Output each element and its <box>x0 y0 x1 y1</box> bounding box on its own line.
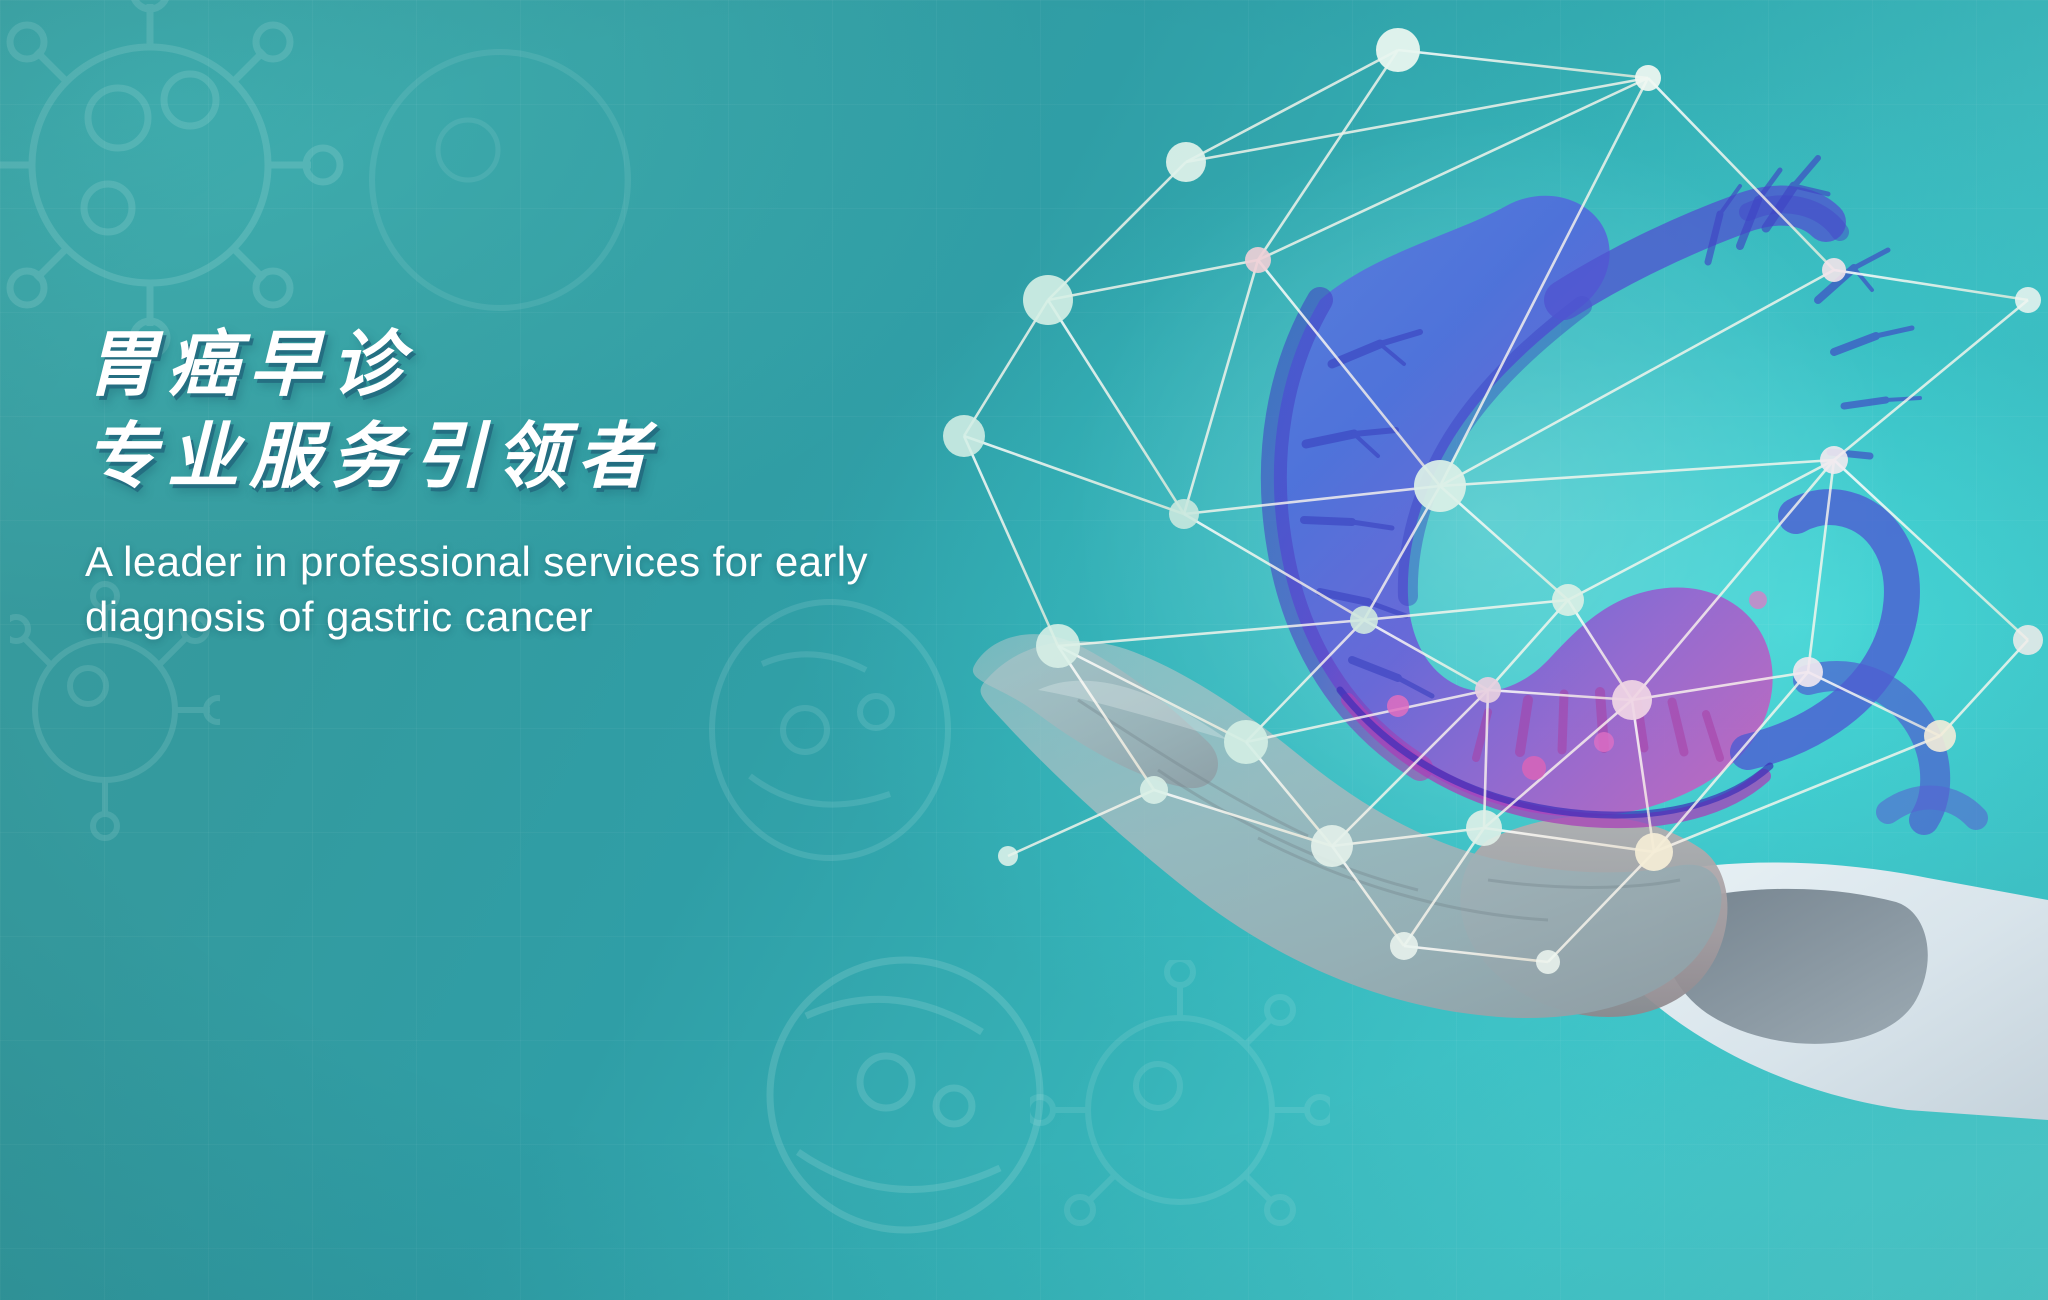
headline-chinese-line-2: 专业服务引领者 <box>85 414 985 500</box>
banner-copy: 胃癌早诊 专业服务引领者 A leader in professional se… <box>85 322 985 644</box>
headline-chinese-line-1: 胃癌早诊 <box>85 322 985 408</box>
cell-bubble-icon <box>350 30 650 330</box>
subtitle-line-2: diagnosis of gastric cancer <box>85 589 985 644</box>
hand-holding-stomach-illustration <box>928 0 2048 1300</box>
subtitle-english: A leader in professional services for ea… <box>85 534 985 644</box>
hero-banner: 胃癌早诊 专业服务引领者 A leader in professional se… <box>0 0 2048 1300</box>
subtitle-line-1: A leader in professional services for ea… <box>85 534 985 589</box>
